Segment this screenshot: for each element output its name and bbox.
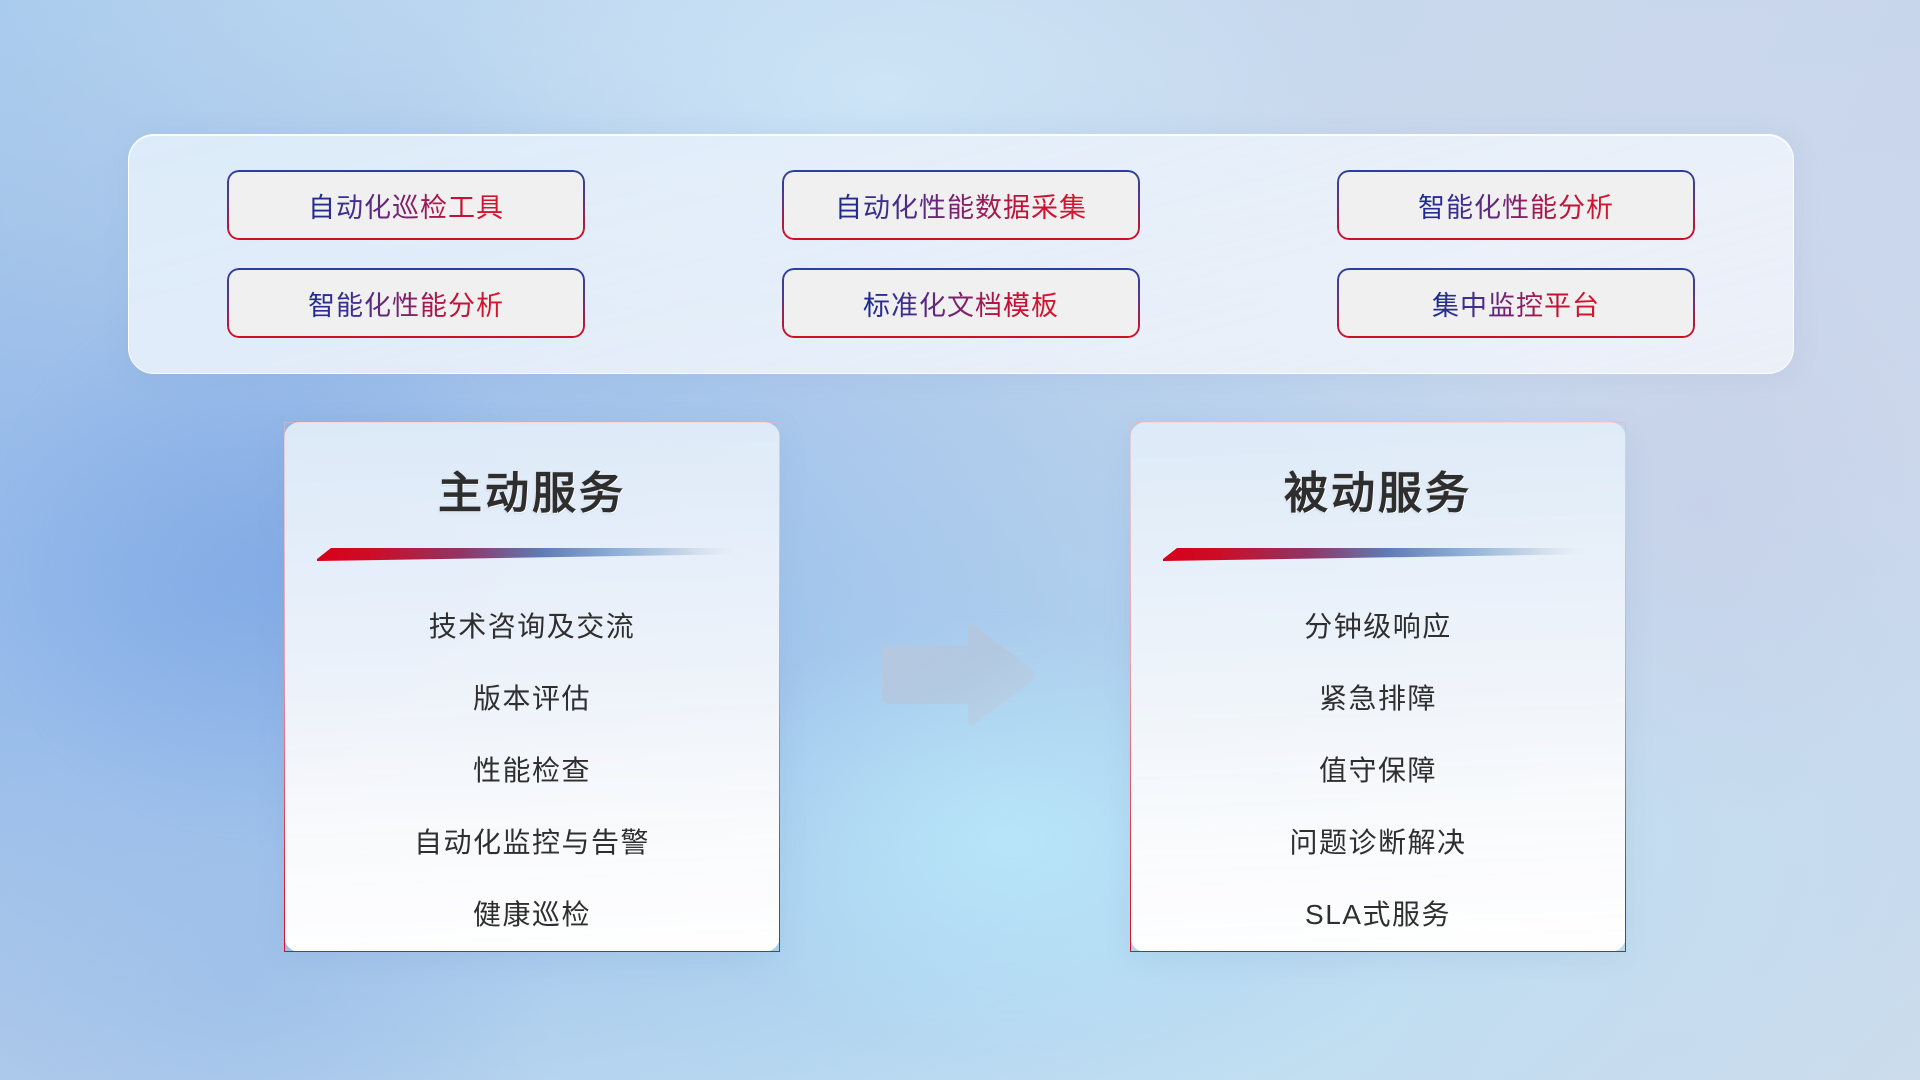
gradient-wedge-icon [1163,543,1593,565]
tool-pill-label: 智能化性能分析 [308,284,504,323]
tool-pill-standard-doc-template[interactable]: 标准化文档模板 [782,268,1140,338]
list-item: 紧急排障 [1319,663,1437,735]
tools-row-2: 智能化性能分析 标准化文档模板 集中监控平台 [227,268,1695,338]
service-card-inner: 主动服务 技术咨询及交流 版本评估 [285,423,779,951]
tool-pill-label: 标准化文档模板 [863,284,1059,323]
tool-pill-intelligent-perf-analysis[interactable]: 智能化性能分析 [1337,170,1695,240]
list-item: SLA式服务 [1305,879,1451,951]
tool-pill-automation-perf-data[interactable]: 自动化性能数据采集 [782,170,1140,240]
card-divider [1163,543,1593,565]
list-item: 问题诊断解决 [1289,807,1466,879]
service-card-reactive: 被动服务 分钟级响应 紧急排障 [1130,422,1626,952]
list-item: 自动化监控与告警 [414,807,650,879]
tool-pill-automation-inspection[interactable]: 自动化巡检工具 [227,170,585,240]
tool-pill-label: 集中监控平台 [1432,284,1600,323]
tools-panel: 自动化巡检工具 自动化性能数据采集 智能化性能分析 智能化性能分析 标准化文档模… [128,134,1794,374]
card-item-list: 分钟级响应 紧急排障 值守保障 问题诊断解决 SLA式服务 [1131,591,1625,951]
flow-arrow [876,620,1038,730]
tool-pill-central-monitoring[interactable]: 集中监控平台 [1337,268,1695,338]
service-card-proactive: 主动服务 技术咨询及交流 版本评估 [284,422,780,952]
tool-pill-label: 自动化巡检工具 [308,186,504,225]
card-title: 被动服务 [1284,457,1472,521]
card-divider [317,543,747,565]
tool-pill-intelligent-perf-analysis-2[interactable]: 智能化性能分析 [227,268,585,338]
card-item-list: 技术咨询及交流 版本评估 性能检查 自动化监控与告警 健康巡检 [285,591,779,951]
gradient-wedge-icon [317,543,747,565]
service-card-inner: 被动服务 分钟级响应 紧急排障 [1131,423,1625,951]
tool-pill-label: 智能化性能分析 [1418,186,1614,225]
list-item: 性能检查 [473,735,591,807]
list-item: 版本评估 [473,663,591,735]
tools-row-1: 自动化巡检工具 自动化性能数据采集 智能化性能分析 [227,170,1695,240]
list-item: 技术咨询及交流 [429,591,636,663]
list-item: 分钟级响应 [1304,591,1452,663]
list-item: 健康巡检 [473,879,591,951]
list-item: 值守保障 [1319,735,1437,807]
arrow-right-icon [876,620,1038,730]
card-title: 主动服务 [438,457,626,521]
tool-pill-label: 自动化性能数据采集 [835,186,1087,225]
